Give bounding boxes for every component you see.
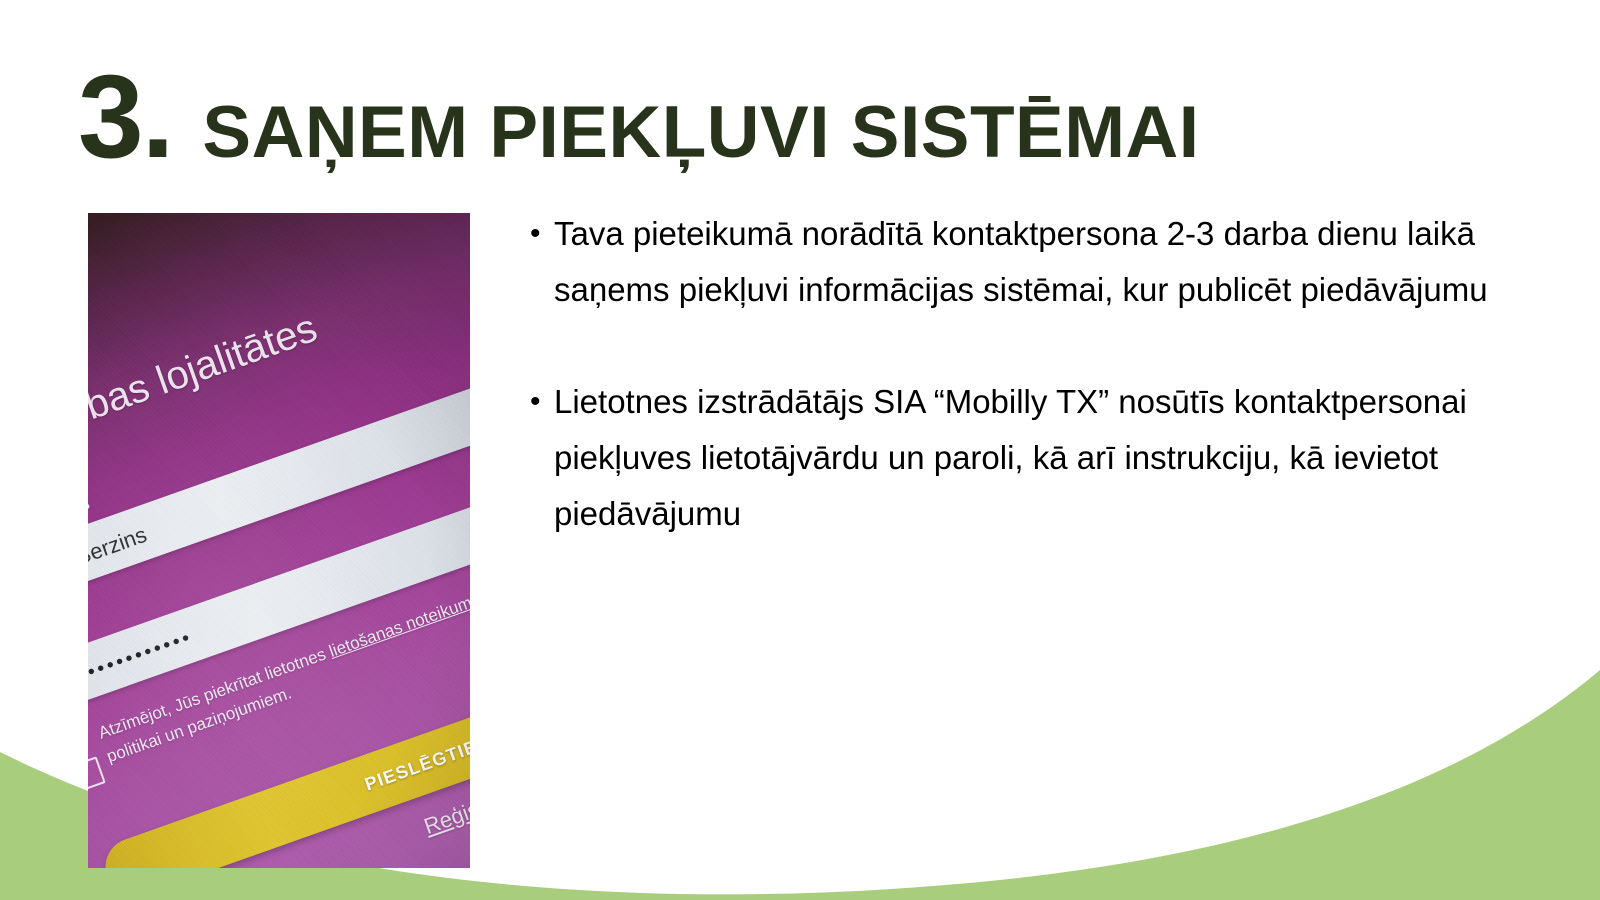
slide-number: 3. — [78, 58, 172, 176]
page-title-text: SAŅEM PIEKĻUVI SISTĒMAI — [202, 96, 1199, 169]
bullet-text: Tava pieteikumā norādītā kontaktpersona … — [554, 206, 1520, 318]
list-item: • Tava pieteikumā norādītā kontaktperson… — [530, 206, 1520, 318]
slide-canvas: 3. SAŅEM PIEKĻUVI SISTĒMAI Pašvaldības l… — [0, 0, 1600, 900]
consent-checkbox[interactable] — [88, 756, 106, 792]
bullet-list: • Tava pieteikumā norādītā kontaktperson… — [530, 206, 1520, 598]
bullet-marker-icon: • — [530, 374, 554, 430]
login-screen-photo: Pašvaldības lojalitātes Lietotājvārds Ja… — [88, 213, 470, 868]
bullet-text: Lietotnes izstrādātājs SIA “Mobilly TX” … — [554, 374, 1520, 542]
login-screen-content: Pašvaldības lojalitātes Lietotājvārds Ja… — [88, 213, 470, 868]
list-item: • Lietotnes izstrādātājs SIA “Mobilly TX… — [530, 374, 1520, 542]
bullet-marker-icon: • — [530, 206, 554, 262]
page-title: 3. SAŅEM PIEKĻUVI SISTĒMAI — [78, 58, 1200, 176]
